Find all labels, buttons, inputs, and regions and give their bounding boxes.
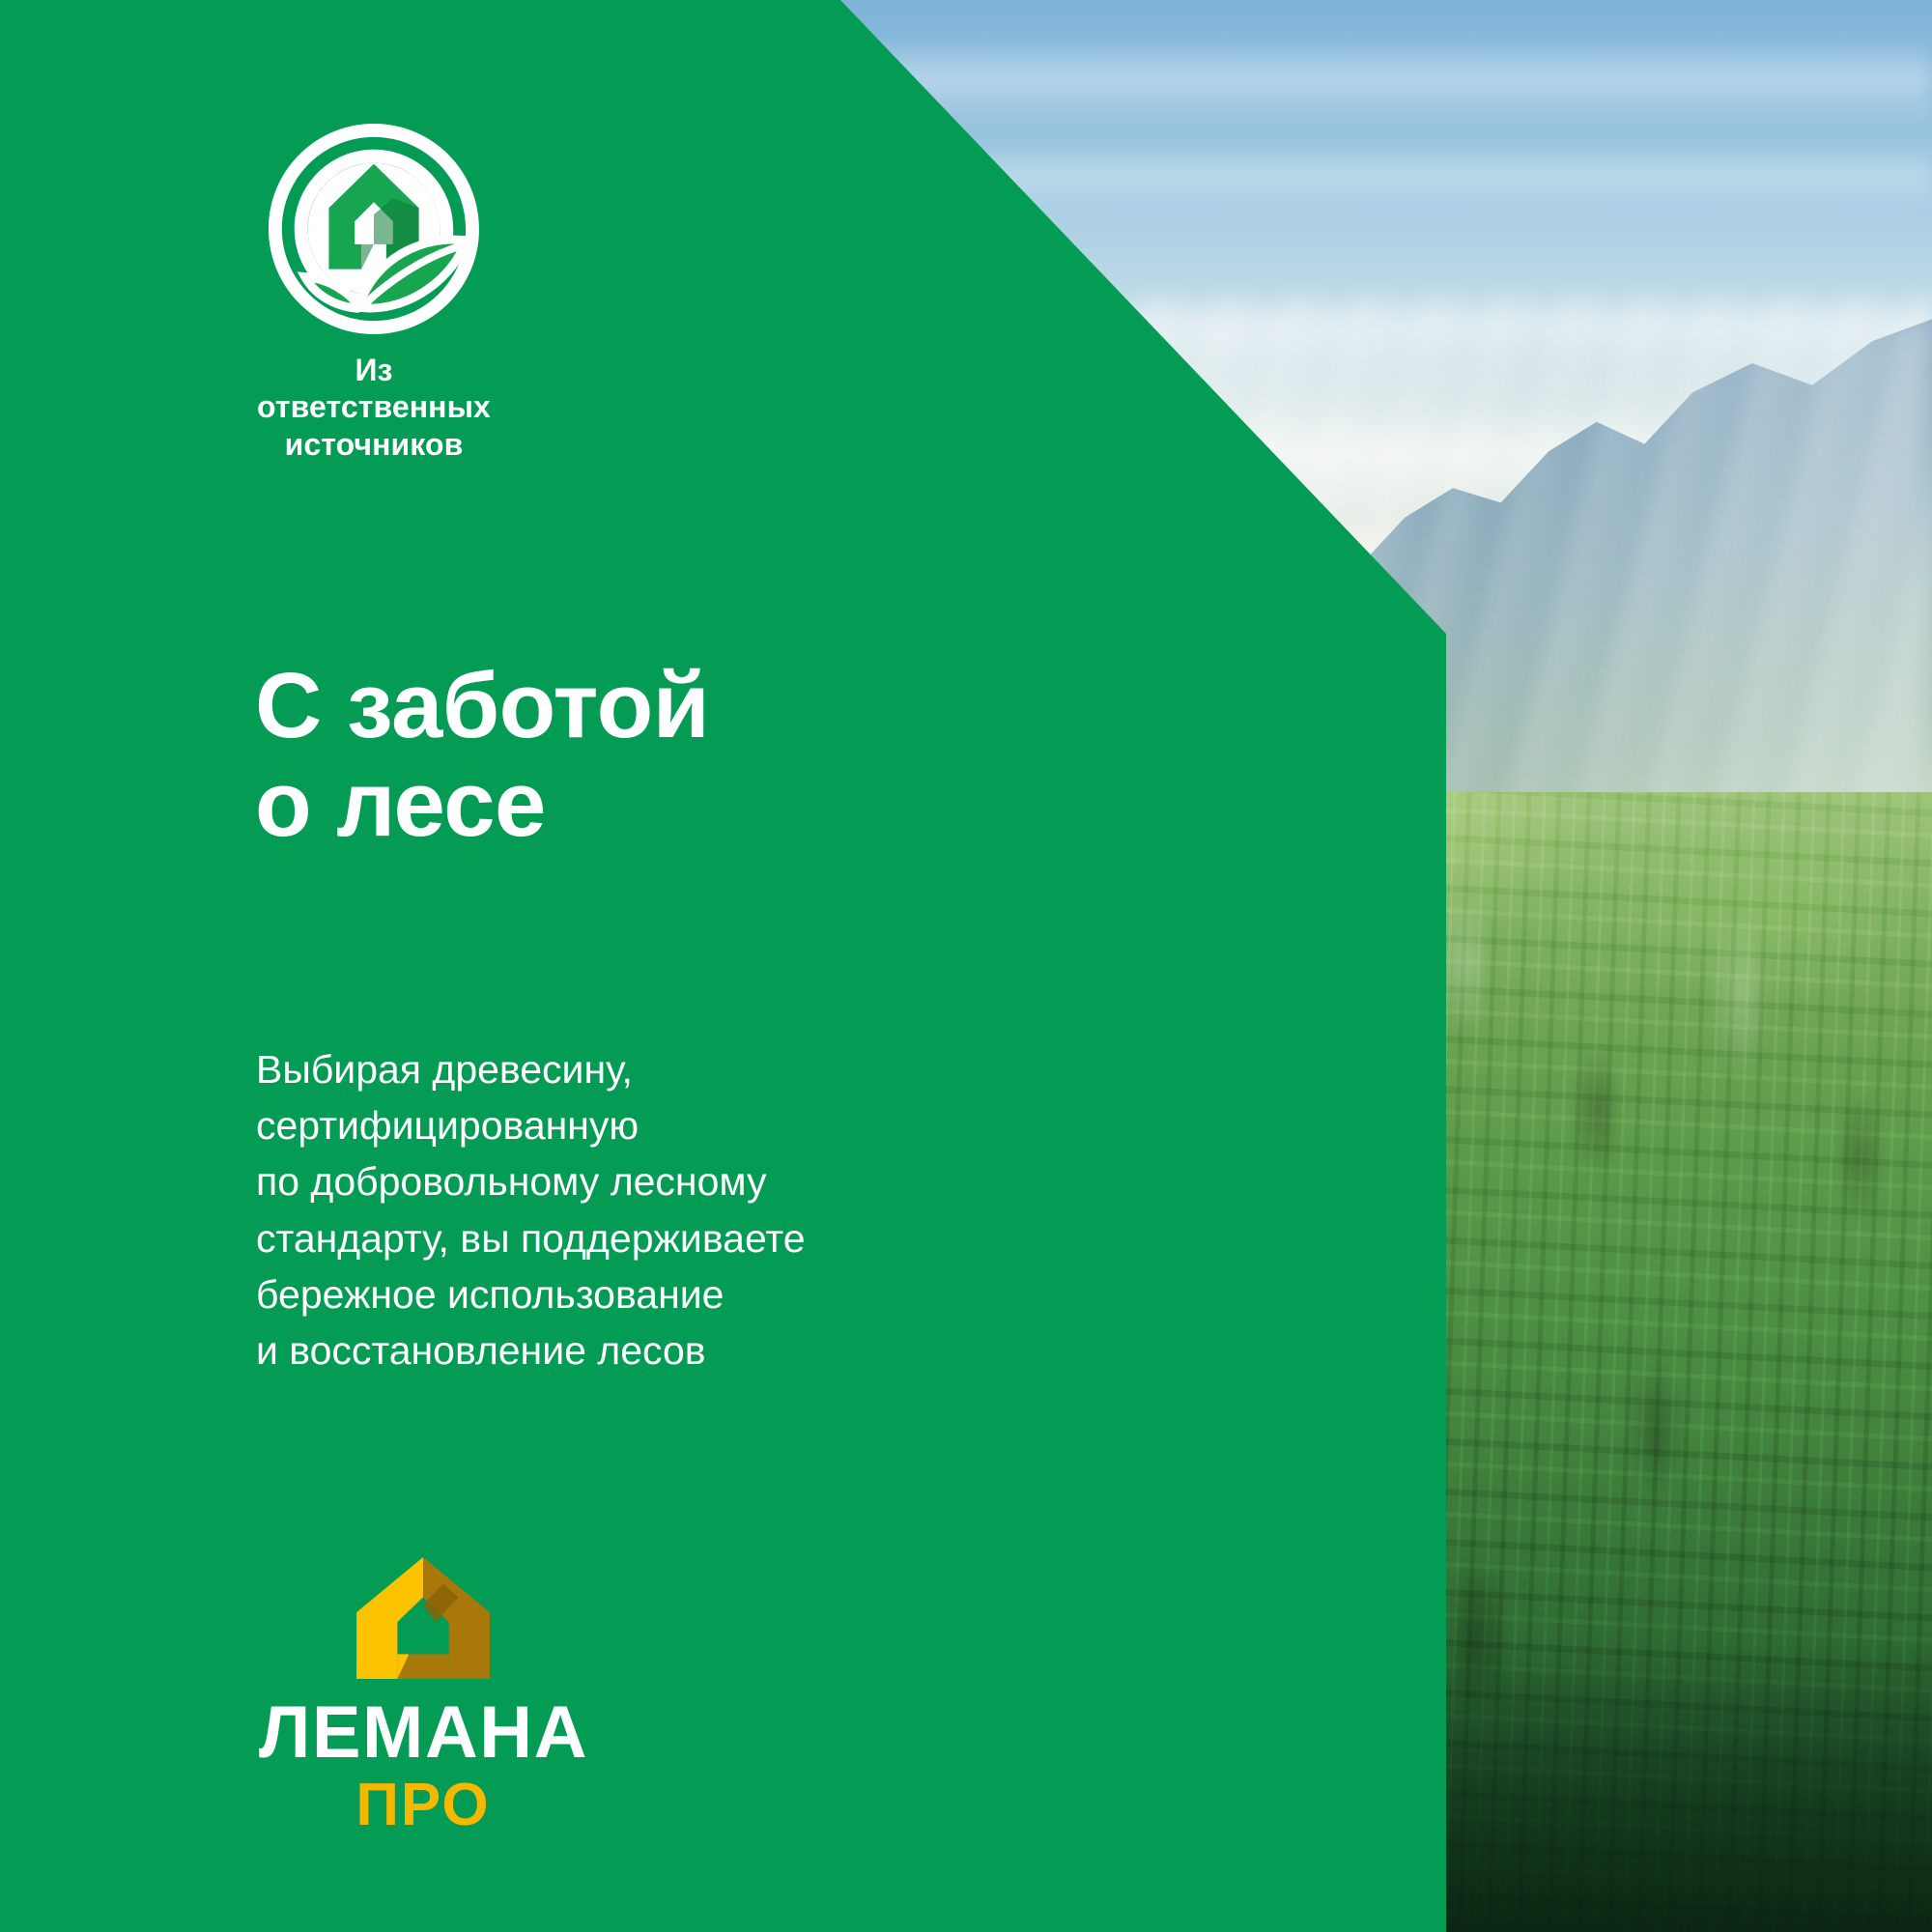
body-paragraph: Выбирая древесину, сертифицированную по … xyxy=(256,1041,990,1378)
brand-lockup: ЛЕМАНА ПРО xyxy=(259,1555,587,1835)
page-title: С заботой о лесе xyxy=(255,657,709,854)
content-layer: Из ответственных источников С заботой о … xyxy=(0,0,1932,1932)
eco-house-leaf-circle-icon xyxy=(269,124,479,334)
lemana-house-arrow-icon xyxy=(352,1555,495,1681)
brand-subname: ПРО xyxy=(259,1776,587,1835)
brand-name: ЛЕМАНА xyxy=(259,1696,587,1770)
eco-badge: Из ответственных источников xyxy=(253,124,495,463)
poster-canvas: Из ответственных источников С заботой о … xyxy=(0,0,1932,1932)
eco-badge-caption: Из ответственных источников xyxy=(253,352,495,463)
